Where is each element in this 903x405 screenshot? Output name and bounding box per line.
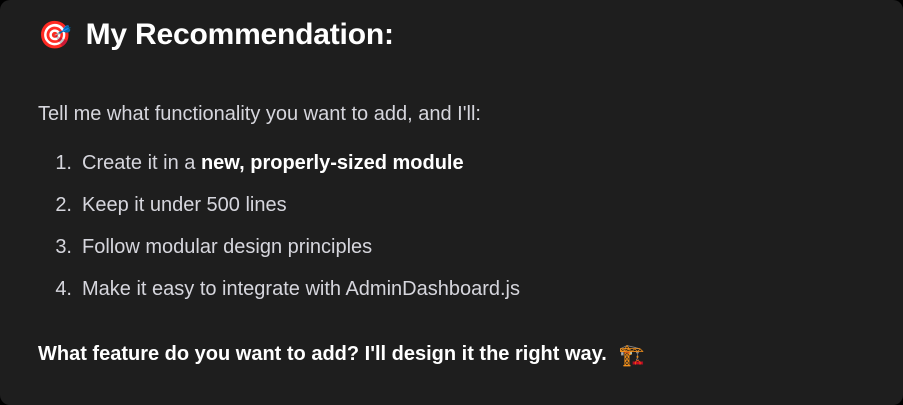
list-item-text-plain: Follow modular design principles [82, 236, 372, 258]
page-title-text: My Recommendation: [86, 18, 394, 51]
list-item: 2. Keep it under 500 lines [38, 194, 858, 236]
list-item-marker: 3. [38, 236, 72, 259]
subtitle-text: Tell me what functionality you want to a… [38, 101, 481, 127]
page-title: 🎯 My Recommendation: [38, 18, 394, 51]
list-item-marker: 2. [38, 194, 72, 217]
list-item-marker: 4. [38, 278, 72, 301]
list-item-text: Create it in a new, properly-sized modul… [82, 152, 464, 175]
target-icon: 🎯 [38, 22, 72, 49]
list-item-text: Keep it under 500 lines [82, 194, 287, 217]
list-item-text-bold: new, properly-sized module [201, 152, 464, 174]
list-item-text-plain: Create it in a [82, 152, 201, 174]
list-item: 3. Follow modular design principles [38, 236, 858, 278]
list-item-marker: 1. [38, 152, 72, 175]
closing-question-text: What feature do you want to add? I'll de… [38, 343, 607, 366]
recommendation-card: 🎯 My Recommendation: Tell me what functi… [0, 0, 903, 405]
list-item: 1. Create it in a new, properly-sized mo… [38, 152, 858, 194]
list-item: 4. Make it easy to integrate with AdminD… [38, 278, 858, 320]
list-item-text: Follow modular design principles [82, 236, 372, 259]
list-item-text-plain: Keep it under 500 lines [82, 194, 287, 216]
recommendation-list: 1. Create it in a new, properly-sized mo… [38, 152, 858, 320]
building-construction-icon: 🏗️ [619, 345, 645, 366]
list-item-text: Make it easy to integrate with AdminDash… [82, 278, 520, 301]
list-item-text-plain: Make it easy to integrate with AdminDash… [82, 278, 520, 300]
closing-question: What feature do you want to add? I'll de… [38, 343, 645, 366]
